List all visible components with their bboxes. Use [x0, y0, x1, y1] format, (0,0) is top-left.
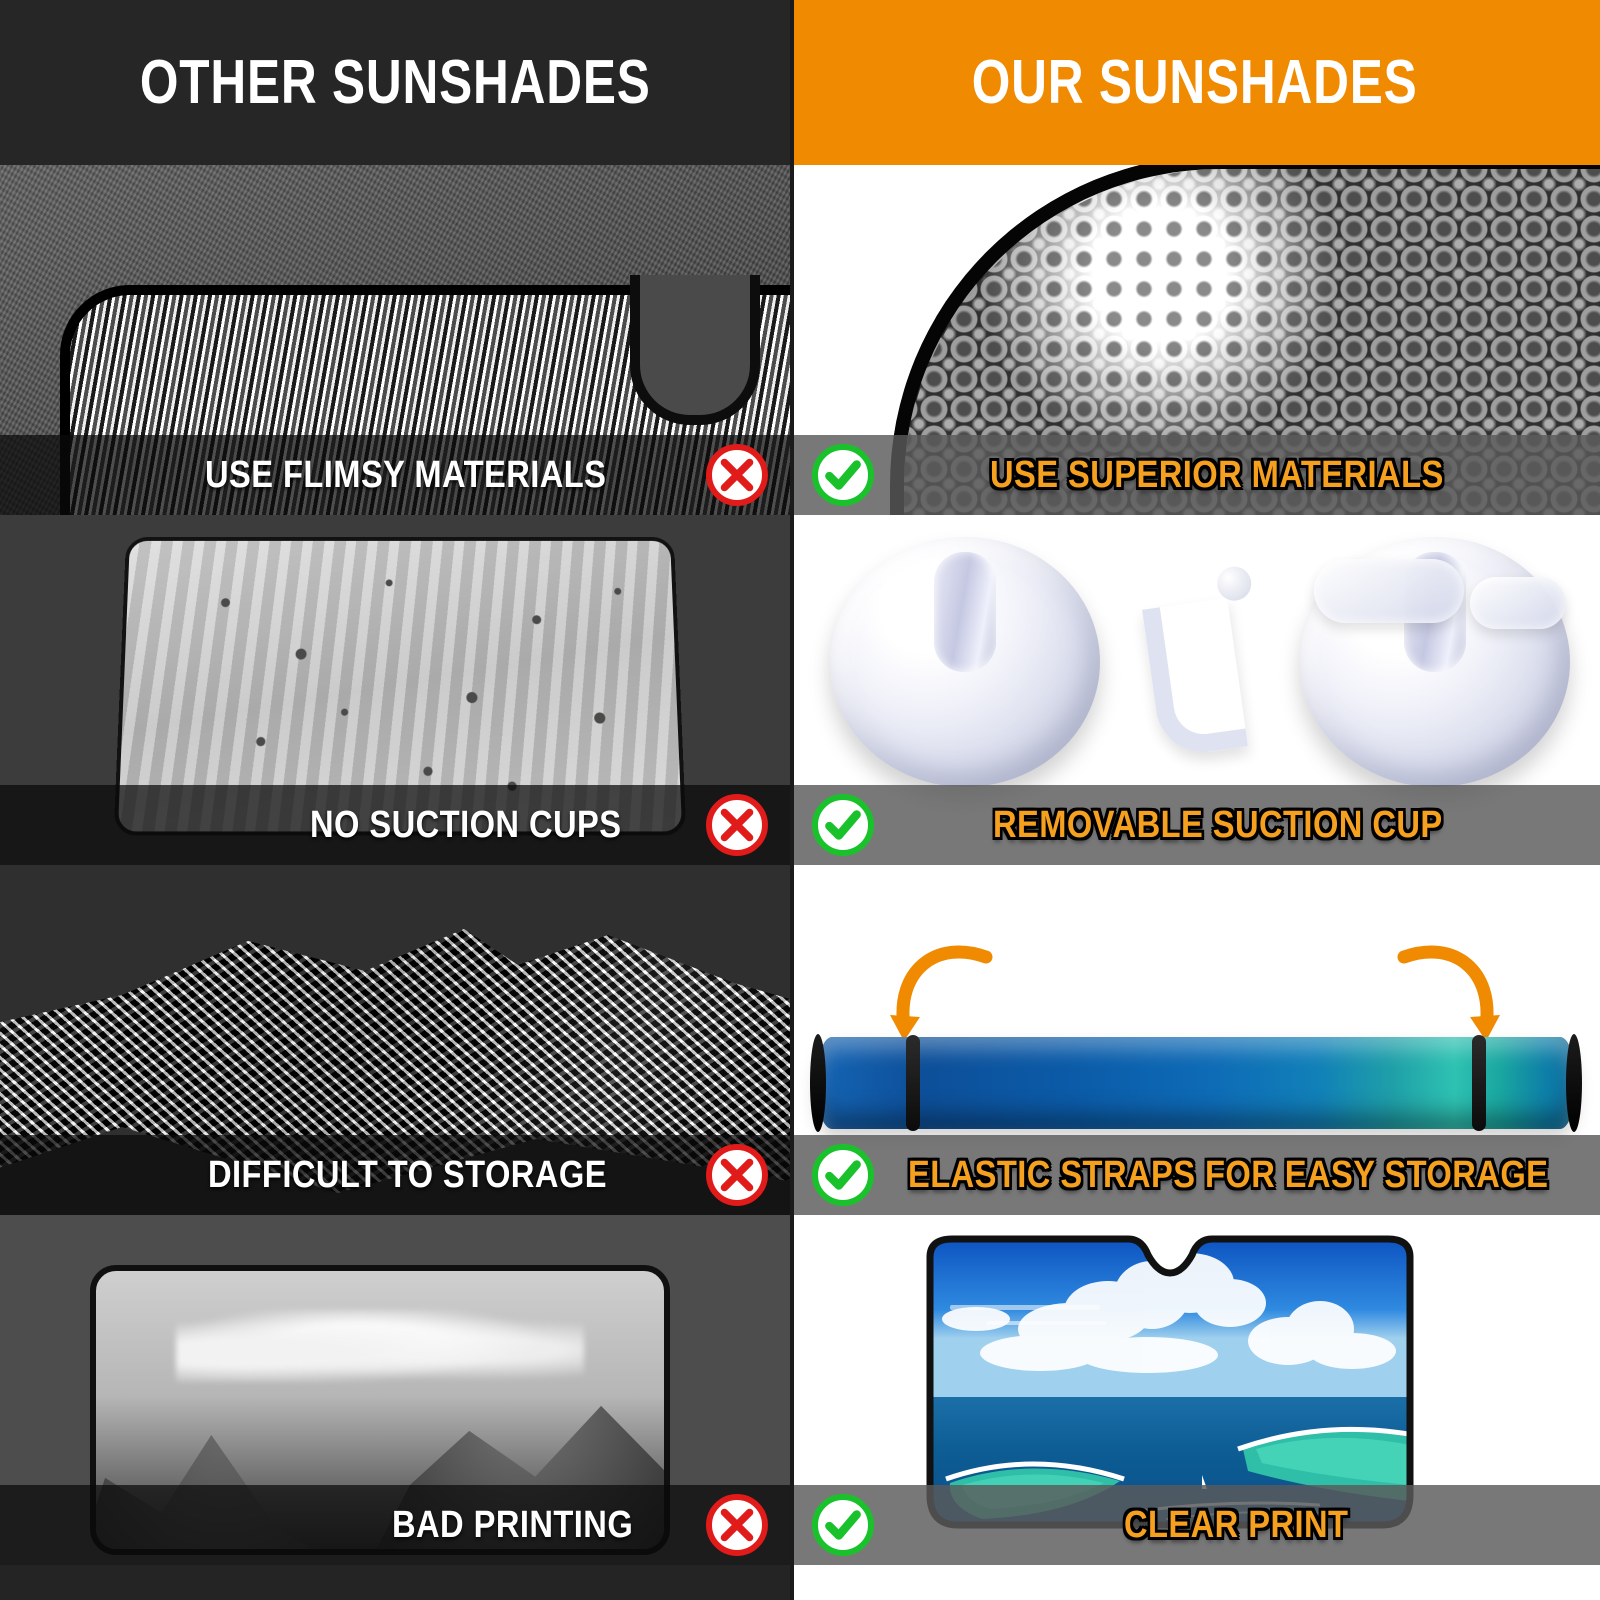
check-icon: [812, 444, 874, 506]
suction-cup-right: [1300, 537, 1570, 787]
other-sunshades-title: OTHER SUNSHADES: [140, 47, 651, 118]
row-materials-left-label-band: USE FLIMSY MATERIALS: [0, 435, 790, 515]
cross-icon: [706, 444, 768, 506]
curved-arrow-left-icon: [886, 923, 1006, 1043]
row-suction-left-label: NO SUCTION CUPS: [310, 804, 621, 847]
row-printing-left-label-band: BAD PRINTING: [0, 1485, 790, 1565]
row-materials-right: USE SUPERIOR MATERIALS: [790, 165, 1600, 515]
row-printing-right: CLEAR PRINT: [790, 1215, 1600, 1565]
row-printing-right-label: CLEAR PRINT: [1124, 1504, 1348, 1547]
row-storage-left: DIFFICULT TO STORAGE: [0, 865, 790, 1215]
row-storage-right-label-band: ELASTIC STRAPS FOR EASY STORAGE: [790, 1135, 1600, 1215]
our-sunshades-title: OUR SUNSHADES: [972, 47, 1418, 118]
cross-icon: [706, 794, 768, 856]
row-materials-left-label: USE FLIMSY MATERIALS: [205, 454, 606, 497]
check-icon: [812, 794, 874, 856]
other-sunshades-column: OTHER SUNSHADES USE FLIMSY MATERIALS: [0, 0, 790, 1600]
rolled-sunshade: [816, 1037, 1576, 1129]
row-suction-right-label-band: REMOVABLE SUCTION CUP: [790, 785, 1600, 865]
row-printing-right-label-band: CLEAR PRINT: [790, 1485, 1600, 1565]
row-suction-right-label: REMOVABLE SUCTION CUP: [993, 804, 1443, 847]
cross-icon: [706, 1494, 768, 1556]
our-sunshades-header: OUR SUNSHADES: [790, 0, 1600, 165]
comparison-infographic: OTHER SUNSHADES USE FLIMSY MATERIALS: [0, 0, 1600, 1600]
curved-arrow-right-icon: [1384, 923, 1504, 1043]
check-icon: [812, 1494, 874, 1556]
suction-hook: [1142, 598, 1248, 759]
row-suction-right: REMOVABLE SUCTION CUP: [790, 515, 1600, 865]
row-suction-left: NO SUCTION CUPS: [0, 515, 790, 865]
other-sunshades-header: OTHER SUNSHADES: [0, 0, 790, 165]
row-storage-left-label-band: DIFFICULT TO STORAGE: [0, 1135, 790, 1215]
row-storage-left-label: DIFFICULT TO STORAGE: [208, 1154, 607, 1197]
check-icon: [812, 1144, 874, 1206]
row-printing-left-label: BAD PRINTING: [392, 1504, 633, 1547]
row-materials-right-label: USE SUPERIOR MATERIALS: [990, 454, 1444, 497]
suction-cup-left: [830, 537, 1100, 787]
cross-icon: [706, 1144, 768, 1206]
row-materials-right-label-band: USE SUPERIOR MATERIALS: [790, 435, 1600, 515]
column-divider: [790, 0, 794, 1600]
row-materials-left: USE FLIMSY MATERIALS: [0, 165, 790, 515]
row-suction-left-label-band: NO SUCTION CUPS: [0, 785, 790, 865]
our-sunshades-column: OUR SUNSHADES USE SUPERIOR MATERIALS: [790, 0, 1600, 1600]
row-printing-left: BAD PRINTING: [0, 1215, 790, 1565]
row-storage-right: ELASTIC STRAPS FOR EASY STORAGE: [790, 865, 1600, 1215]
row-storage-right-label: ELASTIC STRAPS FOR EASY STORAGE: [908, 1154, 1548, 1197]
